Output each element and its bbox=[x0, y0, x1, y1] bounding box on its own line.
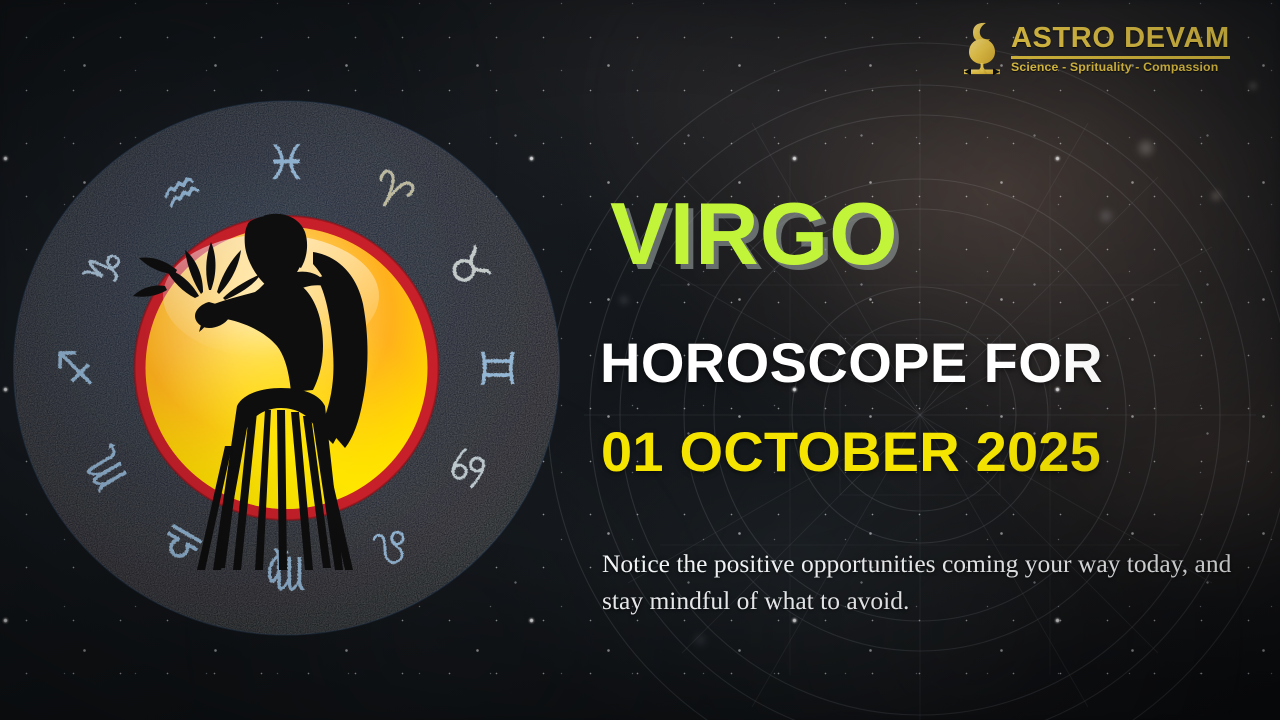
zodiac-sign-title: VIRGO bbox=[610, 190, 899, 278]
svg-text:♐: ♐ bbox=[49, 347, 103, 388]
svg-text:♊: ♊ bbox=[470, 347, 524, 388]
svg-text:♓: ♓ bbox=[265, 135, 308, 191]
poster-canvas: ♓ ♒ ♑ ♐ ♏ ♎ ♍ ♌ ♋ ♊ ♉ ♈ bbox=[0, 0, 1280, 720]
virgo-zodiac-wheel-artwork: ♓ ♒ ♑ ♐ ♏ ♎ ♍ ♌ ♋ ♊ ♉ ♈ bbox=[13, 100, 560, 636]
horoscope-blurb: Notice the positive opportunities coming… bbox=[602, 545, 1232, 620]
horoscope-date: 01 OCTOBER 2025 bbox=[601, 424, 1101, 480]
horoscope-headline: HOROSCOPE FOR bbox=[600, 335, 1103, 391]
headline-block: VIRGO HOROSCOPE FOR 01 OCTOBER 2025 Noti… bbox=[600, 0, 1240, 720]
